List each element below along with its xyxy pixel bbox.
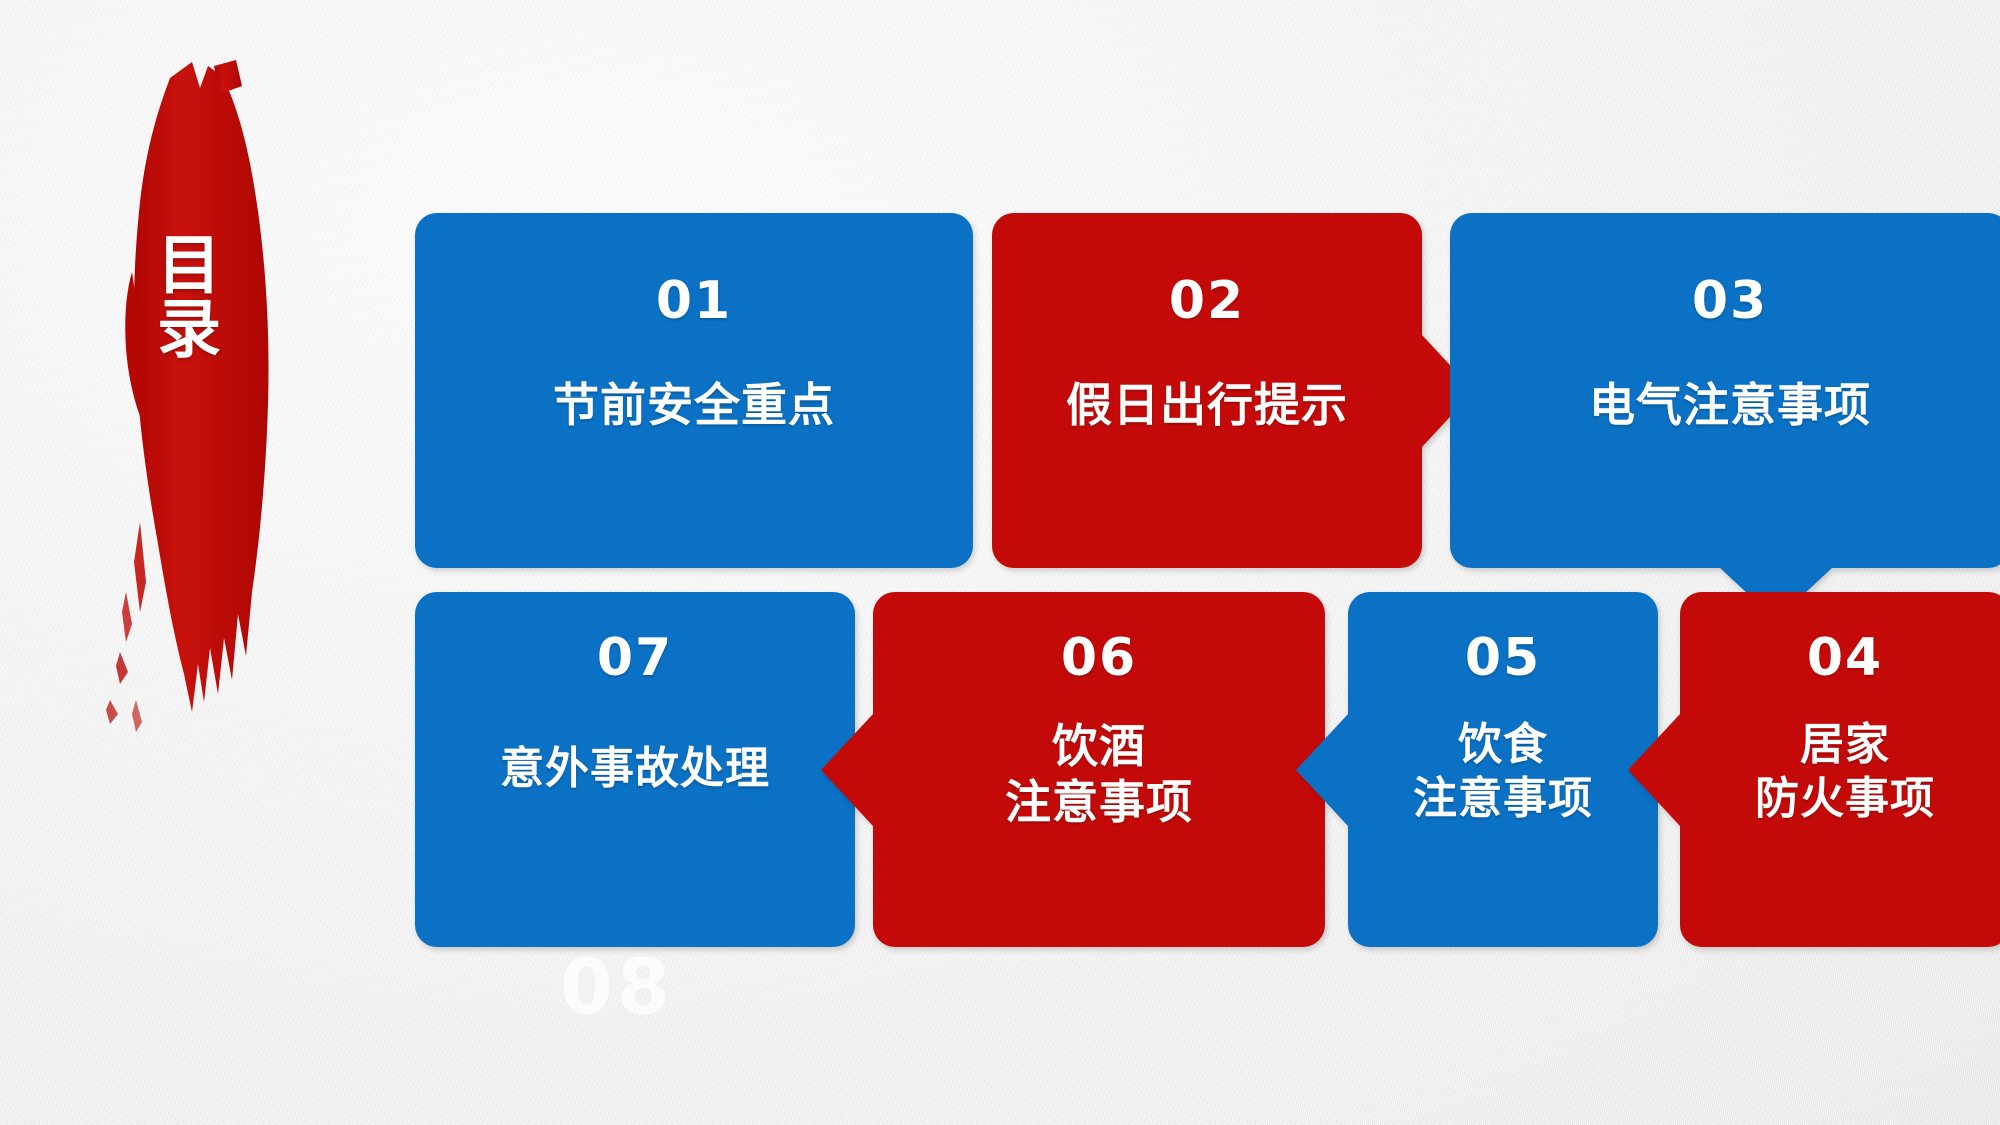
toc-card-01[interactable]: 01 节前安全重点 — [415, 213, 973, 568]
toc-card-06[interactable]: 06 饮酒 注意事项 — [873, 592, 1325, 947]
toc-card-02-body: 02 假日出行提示 — [992, 213, 1422, 568]
toc-card-03[interactable]: 03 电气注意事项 — [1450, 213, 2000, 568]
slide-watermark: 08 — [560, 942, 674, 1031]
toc-card-06-label: 饮酒 注意事项 — [1005, 718, 1193, 830]
toc-card-02[interactable]: 02 假日出行提示 — [992, 213, 1422, 568]
toc-card-03-number: 03 — [1692, 275, 1768, 327]
toc-card-02-number: 02 — [1169, 275, 1245, 327]
brush-badge-title: 目录 — [159, 180, 233, 410]
toc-card-06-number: 06 — [1061, 632, 1137, 684]
toc-arrow-05-to-06-icon — [1296, 714, 1348, 826]
toc-card-03-body: 03 电气注意事项 — [1450, 213, 2000, 568]
toc-card-01-label: 节前安全重点 — [553, 377, 835, 433]
toc-card-05-body: 05 饮食 注意事项 — [1348, 592, 1658, 947]
toc-card-01-body: 01 节前安全重点 — [415, 213, 973, 568]
toc-card-04-number: 04 — [1807, 632, 1883, 684]
toc-card-07[interactable]: 07 意外事故处理 — [415, 592, 855, 947]
toc-card-04-label: 居家 防火事项 — [1755, 718, 1935, 825]
toc-card-05[interactable]: 05 饮食 注意事项 — [1348, 592, 1658, 947]
toc-card-05-label: 饮食 注意事项 — [1413, 718, 1593, 825]
toc-card-05-number: 05 — [1465, 632, 1541, 684]
toc-card-04[interactable]: 04 居家 防火事项 — [1680, 592, 2000, 947]
toc-arrow-04-to-05-icon — [1628, 714, 1680, 826]
toc-arrow-06-to-07-icon — [821, 714, 873, 826]
toc-card-01-number: 01 — [656, 275, 732, 327]
toc-card-03-label: 电气注意事项 — [1589, 377, 1871, 433]
toc-card-04-body: 04 居家 防火事项 — [1680, 592, 2000, 947]
toc-card-06-body: 06 饮酒 注意事项 — [873, 592, 1325, 947]
slide-canvas: 目录 01 节前安全重点 02 假日出行提示 03 电气注意事项 07 意外事故… — [0, 0, 2000, 1125]
toc-card-07-number: 07 — [597, 632, 673, 684]
toc-card-02-label: 假日出行提示 — [1066, 377, 1348, 433]
toc-card-07-body: 07 意外事故处理 — [415, 592, 855, 947]
section-title-brush-badge: 目录 — [96, 52, 296, 732]
toc-card-07-label: 意外事故处理 — [500, 742, 770, 796]
